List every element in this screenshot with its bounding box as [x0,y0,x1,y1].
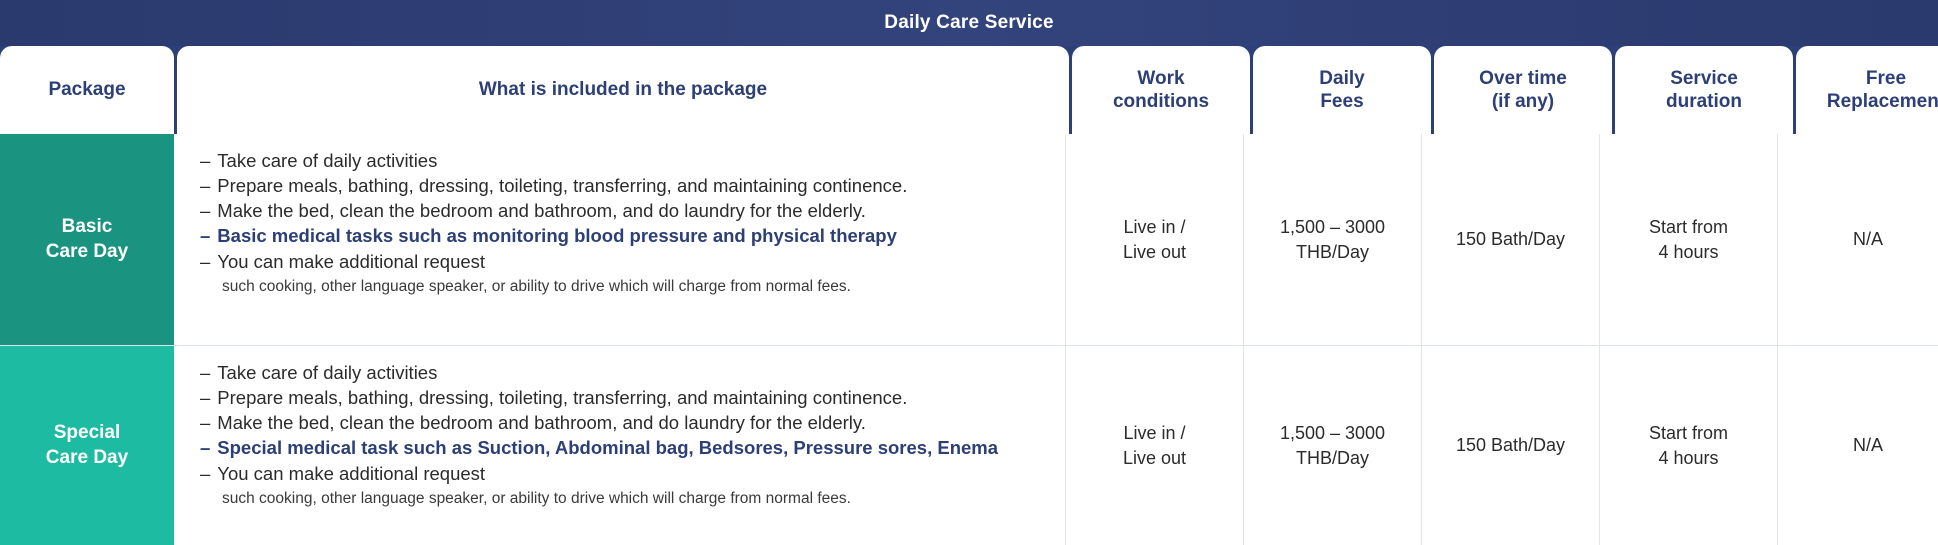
daily-fees-line2: THB/Day [1280,240,1385,264]
table-title-bar: Daily Care Service [0,0,1938,46]
daily-fees-line2: THB/Day [1280,446,1385,470]
column-header-free-line2: Replacement [1827,90,1938,113]
table-header-row: Package What is included in the package … [0,46,1938,134]
column-header-package-label: Package [48,78,125,101]
inclusion-text: Basic medical tasks such as monitoring b… [217,225,897,246]
page-title: Daily Care Service [884,12,1053,34]
bullet-dash-icon: – [200,437,210,458]
column-header-work-conditions: Work conditions [1072,46,1250,134]
inclusion-item-highlighted: –Basic medical tasks such as monitoring … [200,223,1047,248]
column-header-over-time: Over time (if any) [1434,46,1612,134]
column-header-daily-fees: Daily Fees [1253,46,1431,134]
package-name-line2: Care Day [46,446,128,471]
column-header-free-replacement: Free Replacement [1796,46,1938,134]
work-conditions-line2: Live out [1123,240,1186,264]
over-time-cell: 150 Bath/Day [1422,346,1600,545]
over-time-cell: 150 Bath/Day [1422,134,1600,345]
bullet-dash-icon: – [200,150,210,171]
inclusion-item: –Prepare meals, bathing, dressing, toile… [200,385,1047,410]
inclusion-text: Prepare meals, bathing, dressing, toilet… [217,175,907,196]
inclusion-text: You can make additional request [217,251,485,272]
daily-fees-line1: 1,500 – 3000 [1280,215,1385,239]
package-name-cell-basic: Basic Care Day [0,134,174,345]
column-header-package: Package [0,46,174,134]
column-header-included: What is included in the package [177,46,1069,134]
inclusion-item: –Make the bed, clean the bedroom and bat… [200,410,1047,435]
service-duration-line2: 4 hours [1649,240,1728,264]
bullet-dash-icon: – [200,175,210,196]
column-header-service-duration: Service duration [1615,46,1793,134]
inclusion-subnote: such cooking, other language speaker, or… [200,276,1047,298]
service-duration-cell: Start from 4 hours [1600,346,1778,545]
package-name-cell-special: Special Care Day [0,346,174,545]
free-replacement-cell: N/A [1778,346,1938,545]
daily-fees-cell: 1,500 – 3000 THB/Day [1244,346,1422,545]
inclusion-text: Prepare meals, bathing, dressing, toilet… [217,387,907,408]
inclusion-item-highlighted: –Special medical task such as Suction, A… [200,435,1047,460]
inclusion-text: Take care of daily activities [217,362,437,383]
free-replacement-value: N/A [1853,227,1883,251]
free-replacement-cell: N/A [1778,134,1938,345]
inclusion-item: –You can make additional request [200,461,1047,486]
inclusion-text: Special medical task such as Suction, Ab… [217,437,998,458]
bullet-dash-icon: – [200,387,210,408]
work-conditions-cell: Live in / Live out [1066,346,1244,545]
work-conditions-line1: Live in / [1123,215,1186,239]
column-header-duration-line2: duration [1666,90,1742,113]
daily-fees-line1: 1,500 – 3000 [1280,421,1385,445]
package-name-line1: Special [46,421,128,446]
daily-fees-cell: 1,500 – 3000 THB/Day [1244,134,1422,345]
service-duration-line1: Start from [1649,421,1728,445]
over-time-value: 150 Bath/Day [1456,433,1565,457]
over-time-value: 150 Bath/Day [1456,227,1565,251]
work-conditions-cell: Live in / Live out [1066,134,1244,345]
inclusion-item: –Take care of daily activities [200,360,1047,385]
column-header-free-line1: Free [1827,67,1938,90]
column-header-included-label: What is included in the package [479,78,767,101]
inclusion-subnote: such cooking, other language speaker, or… [200,488,1047,510]
bullet-dash-icon: – [200,251,210,272]
inclusion-text: Make the bed, clean the bedroom and bath… [217,200,866,221]
inclusion-text: Make the bed, clean the bedroom and bath… [217,412,866,433]
daily-care-service-table: Daily Care Service Package What is inclu… [0,0,1938,544]
inclusion-item: –Prepare meals, bathing, dressing, toile… [200,173,1047,198]
bullet-dash-icon: – [200,200,210,221]
package-name-line1: Basic [46,215,128,240]
inclusion-item: –Take care of daily activities [200,148,1047,173]
bullet-dash-icon: – [200,412,210,433]
column-header-work-line1: Work [1113,67,1209,90]
service-duration-line2: 4 hours [1649,446,1728,470]
work-conditions-line2: Live out [1123,446,1186,470]
pricing-table: Package What is included in the package … [0,46,1938,545]
column-header-duration-line1: Service [1666,67,1742,90]
package-inclusions-cell: –Take care of daily activities –Prepare … [174,134,1066,345]
inclusion-item: –Make the bed, clean the bedroom and bat… [200,198,1047,223]
column-header-overtime-line2: (if any) [1479,90,1567,113]
bullet-dash-icon: – [200,463,210,484]
service-duration-cell: Start from 4 hours [1600,134,1778,345]
free-replacement-value: N/A [1853,433,1883,457]
column-header-fees-line2: Fees [1319,90,1364,113]
inclusion-text: Take care of daily activities [217,150,437,171]
inclusion-item: –You can make additional request [200,249,1047,274]
column-header-fees-line1: Daily [1319,67,1364,90]
inclusion-text: You can make additional request [217,463,485,484]
column-header-work-line2: conditions [1113,90,1209,113]
bullet-dash-icon: – [200,225,210,246]
column-header-overtime-line1: Over time [1479,67,1567,90]
package-name-line2: Care Day [46,240,128,265]
package-inclusions-cell: –Take care of daily activities –Prepare … [174,346,1066,545]
bullet-dash-icon: – [200,362,210,383]
service-duration-line1: Start from [1649,215,1728,239]
table-row: Special Care Day –Take care of daily act… [0,345,1938,545]
work-conditions-line1: Live in / [1123,421,1186,445]
table-row: Basic Care Day –Take care of daily activ… [0,134,1938,345]
